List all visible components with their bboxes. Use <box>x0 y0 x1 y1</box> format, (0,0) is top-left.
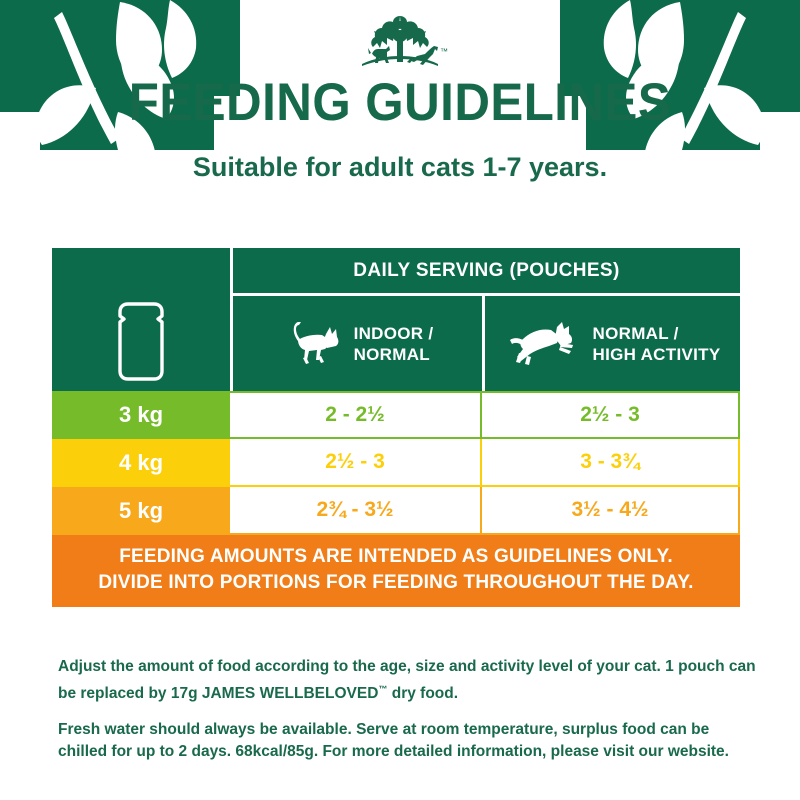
pouch-icon-cell <box>52 248 230 293</box>
page-title: FEEDING GUIDELINES <box>28 74 772 132</box>
serving-active: 3 - 3¾ <box>482 439 740 487</box>
table-row: 5 kg 2¾ - 3½ 3½ - 4½ <box>52 487 740 535</box>
column-header-indoor-line1: INDOOR / <box>354 323 434 344</box>
column-header-active-line1: NORMAL / <box>593 323 721 344</box>
table-row: 4 kg 2½ - 3 3 - 3¾ <box>52 439 740 487</box>
daily-serving-header: DAILY SERVING (POUCHES) <box>230 248 740 293</box>
column-header-active-line2: HIGH ACTIVITY <box>593 344 721 365</box>
weight-label: 3 kg <box>52 391 230 439</box>
column-header-indoor-line2: NORMAL <box>354 344 434 365</box>
pouch-icon-cell-lower <box>52 293 230 391</box>
feeding-table: DAILY SERVING (POUCHES) <box>52 248 740 607</box>
banner-line-1: FEEDING AMOUNTS ARE INTENDED AS GUIDELIN… <box>52 544 740 570</box>
table-header-top: DAILY SERVING (POUCHES) <box>52 248 740 293</box>
page-subtitle: Suitable for adult cats 1-7 years. <box>0 150 800 184</box>
table-row: 3 kg 2 - 2½ 2½ - 3 <box>52 391 740 439</box>
footer-notes: Adjust the amount of food according to t… <box>58 656 758 763</box>
column-header-active: NORMAL / HIGH ACTIVITY <box>482 293 740 391</box>
guidelines-banner: FEEDING AMOUNTS ARE INTENDED AS GUIDELIN… <box>52 535 740 607</box>
weight-label: 5 kg <box>52 487 230 535</box>
serving-indoor: 2 - 2½ <box>230 391 482 439</box>
walking-cat-icon <box>282 322 340 366</box>
serving-indoor: 2½ - 3 <box>230 439 482 487</box>
serving-active: 3½ - 4½ <box>482 487 740 535</box>
pouch-icon <box>110 299 172 385</box>
footer-paragraph-1: Adjust the amount of food according to t… <box>58 656 758 705</box>
svg-text:™: ™ <box>440 47 448 56</box>
banner-line-2: DIVIDE INTO PORTIONS FOR FEEDING THROUGH… <box>52 570 740 596</box>
footer-paragraph-2: Fresh water should always be available. … <box>58 719 758 763</box>
leaping-cat-icon <box>505 321 579 367</box>
table-header-bottom: INDOOR / NORMAL <box>52 293 740 391</box>
brand-logo: ™ <box>0 10 800 72</box>
serving-indoor: 2¾ - 3½ <box>230 487 482 535</box>
serving-active: 2½ - 3 <box>482 391 740 439</box>
feeding-guidelines-page: ™ FEEDING GUIDELINES Suitable for adult … <box>0 0 800 800</box>
footer-paragraph-1-tail: dry food. <box>387 685 458 702</box>
column-header-indoor: INDOOR / NORMAL <box>230 293 482 391</box>
weight-label: 4 kg <box>52 439 230 487</box>
